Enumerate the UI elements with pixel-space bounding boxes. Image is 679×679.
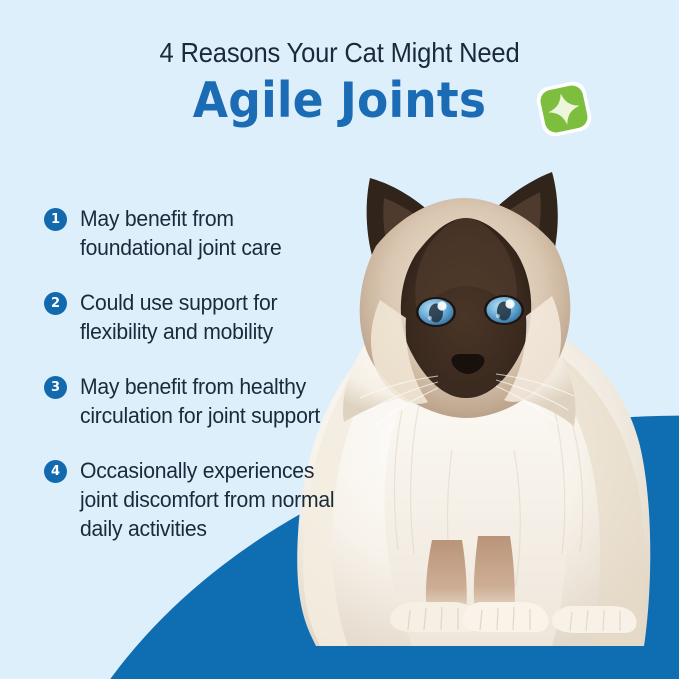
- list-item: 4 Occasionally experiences joint discomf…: [44, 456, 394, 543]
- product-infographic-canvas: 4 Reasons Your Cat Might Need Agile Join…: [0, 0, 679, 679]
- reason-number-badge: 3: [44, 376, 67, 399]
- reason-text: Occasionally experiences joint discomfor…: [80, 456, 334, 543]
- reason-number-badge: 2: [44, 292, 67, 315]
- reason-text: Could use support for flexibility and mo…: [80, 288, 277, 346]
- reason-number-badge: 4: [44, 460, 67, 483]
- reason-number-badge: 1: [44, 208, 67, 231]
- sparkle-badge-icon: [533, 78, 595, 140]
- reason-text: May benefit from healthy circulation for…: [80, 372, 320, 430]
- list-item: 2 Could use support for flexibility and …: [44, 288, 394, 346]
- list-item: 3 May benefit from healthy circulation f…: [44, 372, 394, 430]
- eyebrow-text: 4 Reasons Your Cat Might Need: [24, 0, 655, 68]
- list-item: 1 May benefit from foundational joint ca…: [44, 204, 394, 262]
- reasons-list: 1 May benefit from foundational joint ca…: [44, 204, 394, 569]
- reason-text: May benefit from foundational joint care: [80, 204, 282, 262]
